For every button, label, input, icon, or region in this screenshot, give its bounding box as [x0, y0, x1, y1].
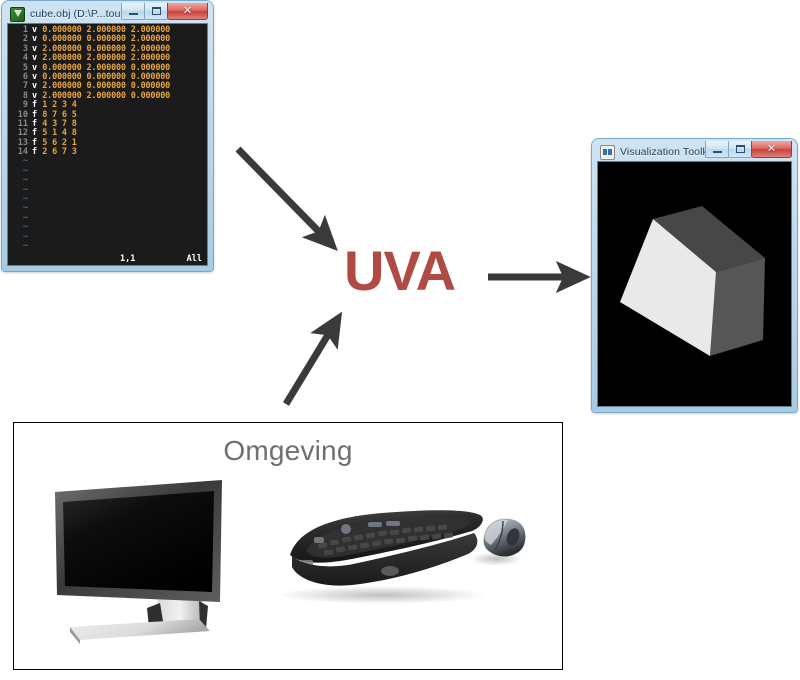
monitor-base	[70, 619, 210, 640]
vim-cursor-position: 1,1	[120, 254, 135, 264]
maximize-button[interactable]	[144, 3, 168, 20]
vim-empty-line: ~	[8, 204, 207, 213]
gvim-titlebar[interactable]: cube.obj (D:\P...touch\src) - GVIM	[7, 5, 208, 23]
close-button[interactable]	[751, 141, 792, 158]
minimize-button[interactable]	[121, 3, 145, 20]
keyboard-mouse-image	[272, 493, 537, 613]
vim-scroll-ruler: All	[187, 254, 202, 264]
vim-empty-line: ~	[8, 157, 207, 166]
vim-empty-line: ~	[8, 186, 207, 195]
keyboard-shadow	[277, 586, 487, 604]
vtk-window[interactable]: Visualization Toolkit - Win32Open...	[592, 139, 797, 412]
vim-empty-line: ~	[8, 214, 207, 223]
omgeving-panel: Omgeving	[13, 422, 563, 670]
vim-empty-line: ~	[8, 167, 207, 176]
minimize-button[interactable]	[705, 141, 729, 158]
vim-empty-line: ~	[8, 233, 207, 242]
gvim-client-area[interactable]: 1v 0.000000 2.000000 2.0000002v 0.000000…	[7, 23, 208, 266]
vtk-app-icon	[600, 145, 615, 160]
arrow-gvim-to-uva	[238, 149, 331, 244]
vim-status-bar: 1,1 All	[8, 253, 207, 265]
vim-empty-line: ~	[8, 242, 207, 251]
close-button[interactable]	[167, 3, 208, 20]
arrow-omgeving-to-uva	[286, 320, 337, 404]
gvim-window-buttons[interactable]	[122, 3, 208, 20]
gvim-app-icon	[10, 7, 25, 22]
vim-empty-line: ~	[8, 176, 207, 185]
vim-empty-line: ~	[8, 223, 207, 232]
cube-face-right	[710, 258, 765, 356]
vim-values: 2 6 7 3	[42, 147, 76, 157]
vim-text-buffer[interactable]: 1v 0.000000 2.000000 2.0000002v 0.000000…	[8, 24, 207, 253]
gvim-window[interactable]: cube.obj (D:\P...touch\src) - GVIM 1v 0.…	[2, 1, 213, 271]
vtk-titlebar[interactable]: Visualization Toolkit - Win32Open...	[597, 143, 792, 161]
vim-line: 14f 2 6 7 3	[8, 148, 207, 157]
vim-keyword: f	[32, 147, 42, 157]
monitor-image	[36, 475, 246, 645]
monitor-screen	[63, 491, 214, 592]
maximize-button[interactable]	[728, 141, 752, 158]
omgeving-title: Omgeving	[14, 435, 562, 467]
vtk-render-area[interactable]	[597, 161, 792, 407]
cube-render	[598, 162, 791, 406]
uva-label: UVA	[344, 243, 455, 299]
vim-empty-line: ~	[8, 195, 207, 204]
keyboard-logo	[381, 566, 399, 576]
vtk-window-buttons[interactable]	[706, 141, 792, 158]
